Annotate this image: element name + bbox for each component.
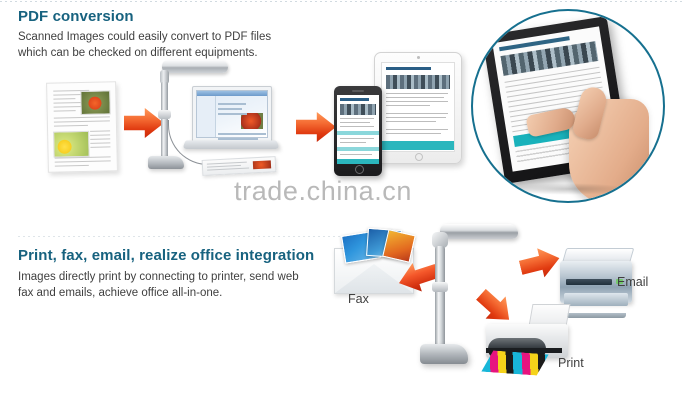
scanner2-post — [435, 246, 445, 350]
tablet-doc-title — [386, 67, 431, 70]
phone-screen-pdf — [337, 95, 379, 164]
mobile-devices-illustration — [334, 52, 474, 178]
tablet-camera — [417, 56, 420, 59]
device-label-fax: Fax — [348, 292, 369, 306]
circle-photo-shadow — [511, 183, 627, 195]
scan-pad-document — [202, 156, 277, 176]
scanner-post — [161, 82, 168, 160]
phone-home-button[interactable] — [355, 165, 364, 174]
smartphone-illustration — [334, 86, 382, 176]
watermark-text: trade.china.cn — [234, 176, 412, 207]
scanner-joint — [158, 110, 171, 119]
section-heading-office-integration: Print, fax, email, realize office integr… — [18, 247, 314, 264]
mfp-base — [566, 313, 626, 318]
device-label-print: Print — [558, 356, 584, 370]
tablet-doc-photo-strip — [386, 75, 450, 89]
printed-document-image — [46, 81, 118, 172]
top-dotted-divider — [0, 1, 685, 2]
flow-arrow-right-icon-2 — [296, 112, 336, 142]
document-camera-scanner-illustration — [140, 58, 275, 188]
tablet-home-button[interactable] — [415, 153, 423, 161]
document-photo-flower-red — [80, 90, 110, 115]
phone-doc-photo-strip — [340, 104, 376, 115]
scanner-base-foot — [148, 156, 184, 169]
circle-hero-photo-hand-tablet — [471, 9, 665, 203]
mfp-control-panel — [566, 279, 612, 285]
phone-doc-title — [340, 98, 369, 101]
document-photo-flower-yellow — [53, 131, 90, 158]
device-label-email: Email — [617, 275, 648, 289]
phone-speaker — [352, 90, 364, 92]
scan-pad-photo — [253, 160, 271, 169]
scanner-camera-head — [162, 60, 228, 73]
flow-arrow-right-icon-email — [517, 244, 563, 283]
document-text-lines-3 — [90, 130, 110, 150]
scanner2-camera-head — [440, 224, 518, 239]
laptop-scan-thumbnail — [241, 113, 263, 129]
scanner2-base-foot — [420, 344, 468, 364]
document-text-lines-2 — [54, 116, 110, 129]
envelope-photo-3 — [382, 229, 416, 263]
section-body-pdf-conversion: Scanned Images could easily convert to P… — [18, 29, 293, 61]
section-heading-pdf-conversion: PDF conversion — [18, 8, 134, 25]
promo-banner: PDF conversion Scanned Images could easi… — [0, 0, 685, 402]
tablet-screen-pdf — [381, 62, 455, 152]
document-text-lines-4 — [55, 156, 111, 169]
mfp-output-tray — [564, 293, 628, 306]
circle-photo-inner — [473, 11, 663, 201]
section-dotted-divider — [18, 236, 348, 237]
section-body-office-integration: Images directly print by connecting to p… — [18, 269, 308, 301]
tablet-illustration — [374, 52, 462, 164]
envelope-illustration — [334, 248, 414, 294]
scanner2-joint — [432, 282, 448, 292]
tablet-doc-accent-band — [382, 141, 454, 150]
